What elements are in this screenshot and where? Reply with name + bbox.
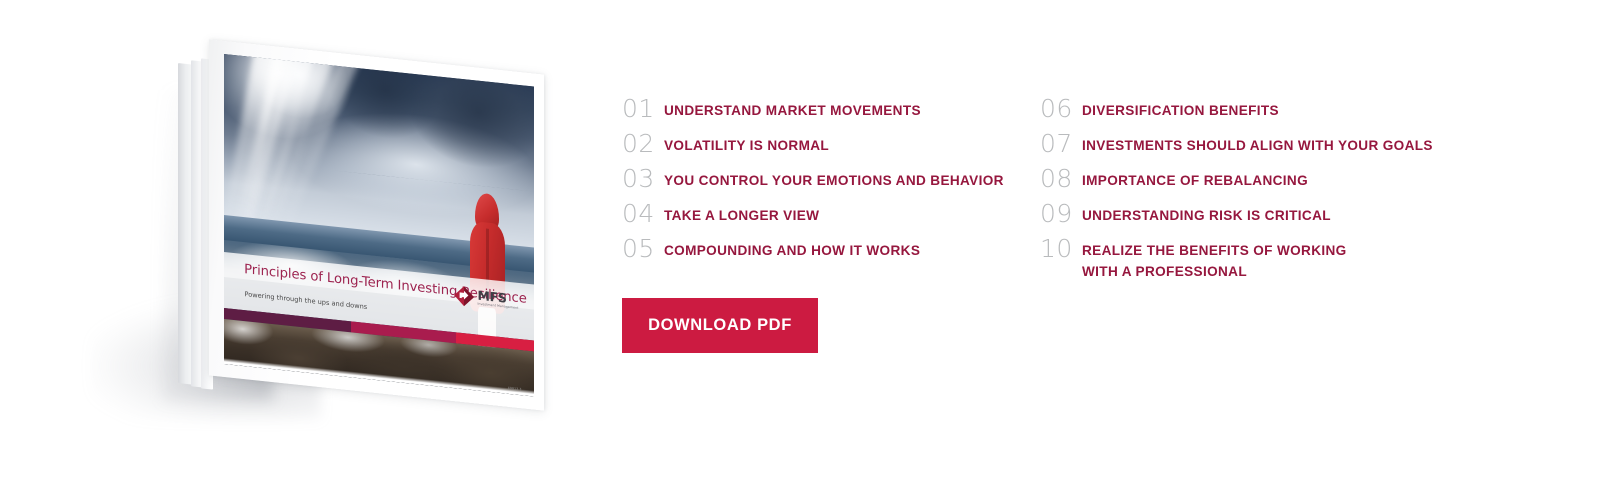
list-item-label: REALIZE THE BENEFITS OF WORKING WITH A P… <box>1082 237 1347 282</box>
topics-list-column-left: 01 UNDERSTAND MARKET MOVEMENTS 02 VOLATI… <box>622 97 1022 272</box>
list-item[interactable]: 01 UNDERSTAND MARKET MOVEMENTS <box>622 97 1022 132</box>
topics-list-column-right: 06 DIVERSIFICATION BENEFITS 07 INVESTMEN… <box>1040 97 1470 282</box>
list-item-number: 02 <box>622 132 664 156</box>
list-item[interactable]: 02 VOLATILITY IS NORMAL <box>622 132 1022 167</box>
list-item-number: 06 <box>1040 97 1082 121</box>
list-item-label: VOLATILITY IS NORMAL <box>664 132 829 156</box>
book-cover-board: Principles of Long-Term Investing Resili… <box>209 39 544 410</box>
list-item-label: DIVERSIFICATION BENEFITS <box>1082 97 1279 121</box>
mfs-diamond-arrow-icon <box>453 284 475 308</box>
list-item-label: UNDERSTAND MARKET MOVEMENTS <box>664 97 921 121</box>
list-item-label: TAKE A LONGER VIEW <box>664 202 819 226</box>
list-item[interactable]: 10 REALIZE THE BENEFITS OF WORKING WITH … <box>1040 237 1470 282</box>
list-item-number: 04 <box>622 202 664 226</box>
list-item[interactable]: 06 DIVERSIFICATION BENEFITS <box>1040 97 1470 132</box>
list-item-number: 09 <box>1040 202 1082 226</box>
list-item-number: 03 <box>622 167 664 191</box>
list-item-number: 07 <box>1040 132 1082 156</box>
list-item[interactable]: 04 TAKE A LONGER VIEW <box>622 202 1022 237</box>
list-item[interactable]: 05 COMPOUNDING AND HOW IT WORKS <box>622 237 1022 272</box>
list-item-label: YOU CONTROL YOUR EMOTIONS AND BEHAVIOR <box>664 167 1004 191</box>
list-item-label-line1: REALIZE THE BENEFITS OF WORKING <box>1082 243 1347 258</box>
list-item-label: COMPOUNDING AND HOW IT WORKS <box>664 237 920 261</box>
brochure-cover-mockup[interactable]: Principles of Long-Term Investing Resili… <box>85 50 555 400</box>
list-item[interactable]: 07 INVESTMENTS SHOULD ALIGN WITH YOUR GO… <box>1040 132 1470 167</box>
list-item-number: 05 <box>622 237 664 261</box>
mfs-wordmark: MFS Investment Management <box>478 289 519 310</box>
list-item-label: IMPORTANCE OF REBALANCING <box>1082 167 1308 191</box>
download-pdf-button[interactable]: DOWNLOAD PDF <box>622 298 818 353</box>
list-item-number: 08 <box>1040 167 1082 191</box>
list-item[interactable]: 09 UNDERSTANDING RISK IS CRITICAL <box>1040 202 1470 237</box>
list-item-number: 10 <box>1040 237 1082 261</box>
list-item-label: UNDERSTANDING RISK IS CRITICAL <box>1082 202 1331 226</box>
list-item-label-line2: WITH A PROFESSIONAL <box>1082 261 1347 282</box>
list-item-number: 01 <box>622 97 664 121</box>
list-item[interactable]: 03 YOU CONTROL YOUR EMOTIONS AND BEHAVIO… <box>622 167 1022 202</box>
list-item-label: INVESTMENTS SHOULD ALIGN WITH YOUR GOALS <box>1082 132 1433 156</box>
cover-artwork: Principles of Long-Term Investing Resili… <box>224 54 534 397</box>
list-item[interactable]: 08 IMPORTANCE OF REBALANCING <box>1040 167 1470 202</box>
